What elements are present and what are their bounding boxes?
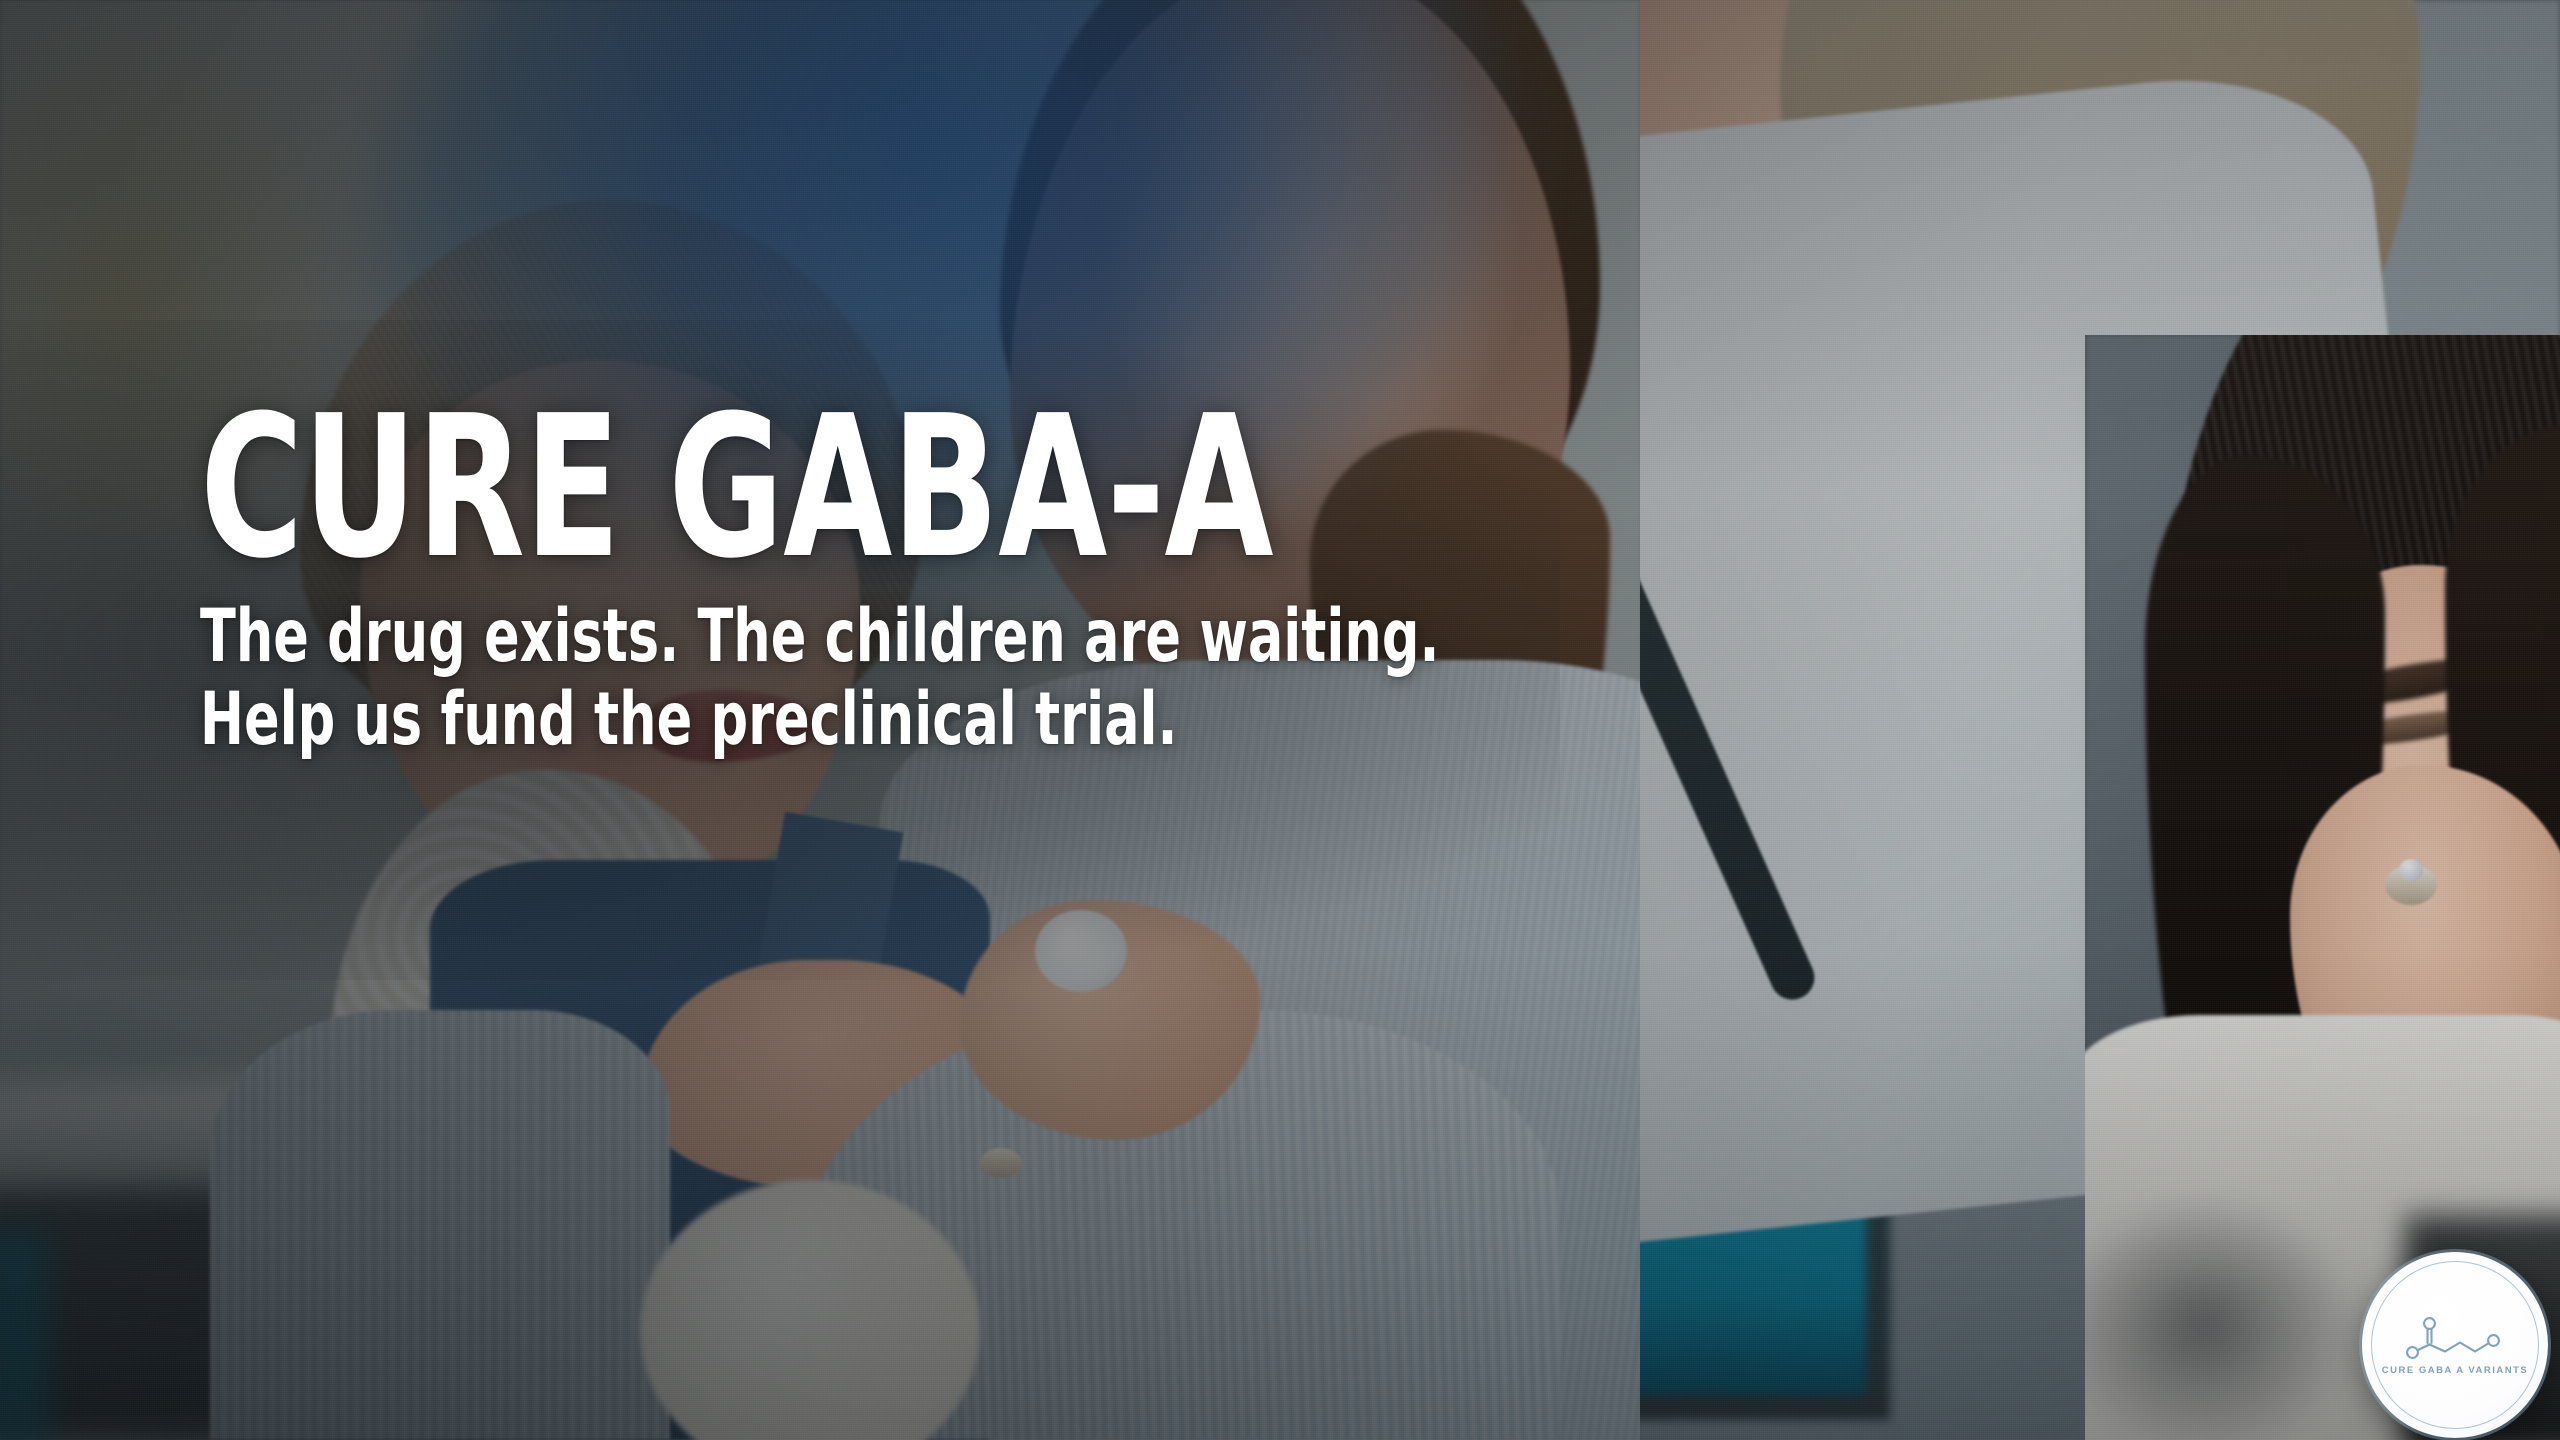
logo-wordmark: CURE GABA A VARIANTS [2382,1365,2528,1376]
gaba-molecule-icon [2403,1315,2507,1359]
page-title: CURE GABA-A [200,398,1320,578]
campaign-copy-block: CURE GABA-A The drug exists. The childre… [200,398,1600,760]
organization-logo-badge[interactable]: CURE GABA A VARIANTS [2362,1252,2548,1438]
logo-stack: CURE GABA A VARIANTS [2382,1315,2528,1376]
subhead-line-1: The drug exists. The children are waitin… [200,598,1320,677]
campaign-hero-banner: CURE GABA-A The drug exists. The childre… [0,0,2560,1440]
subhead-line-2: Help us fund the preclinical trial. [200,681,1320,760]
